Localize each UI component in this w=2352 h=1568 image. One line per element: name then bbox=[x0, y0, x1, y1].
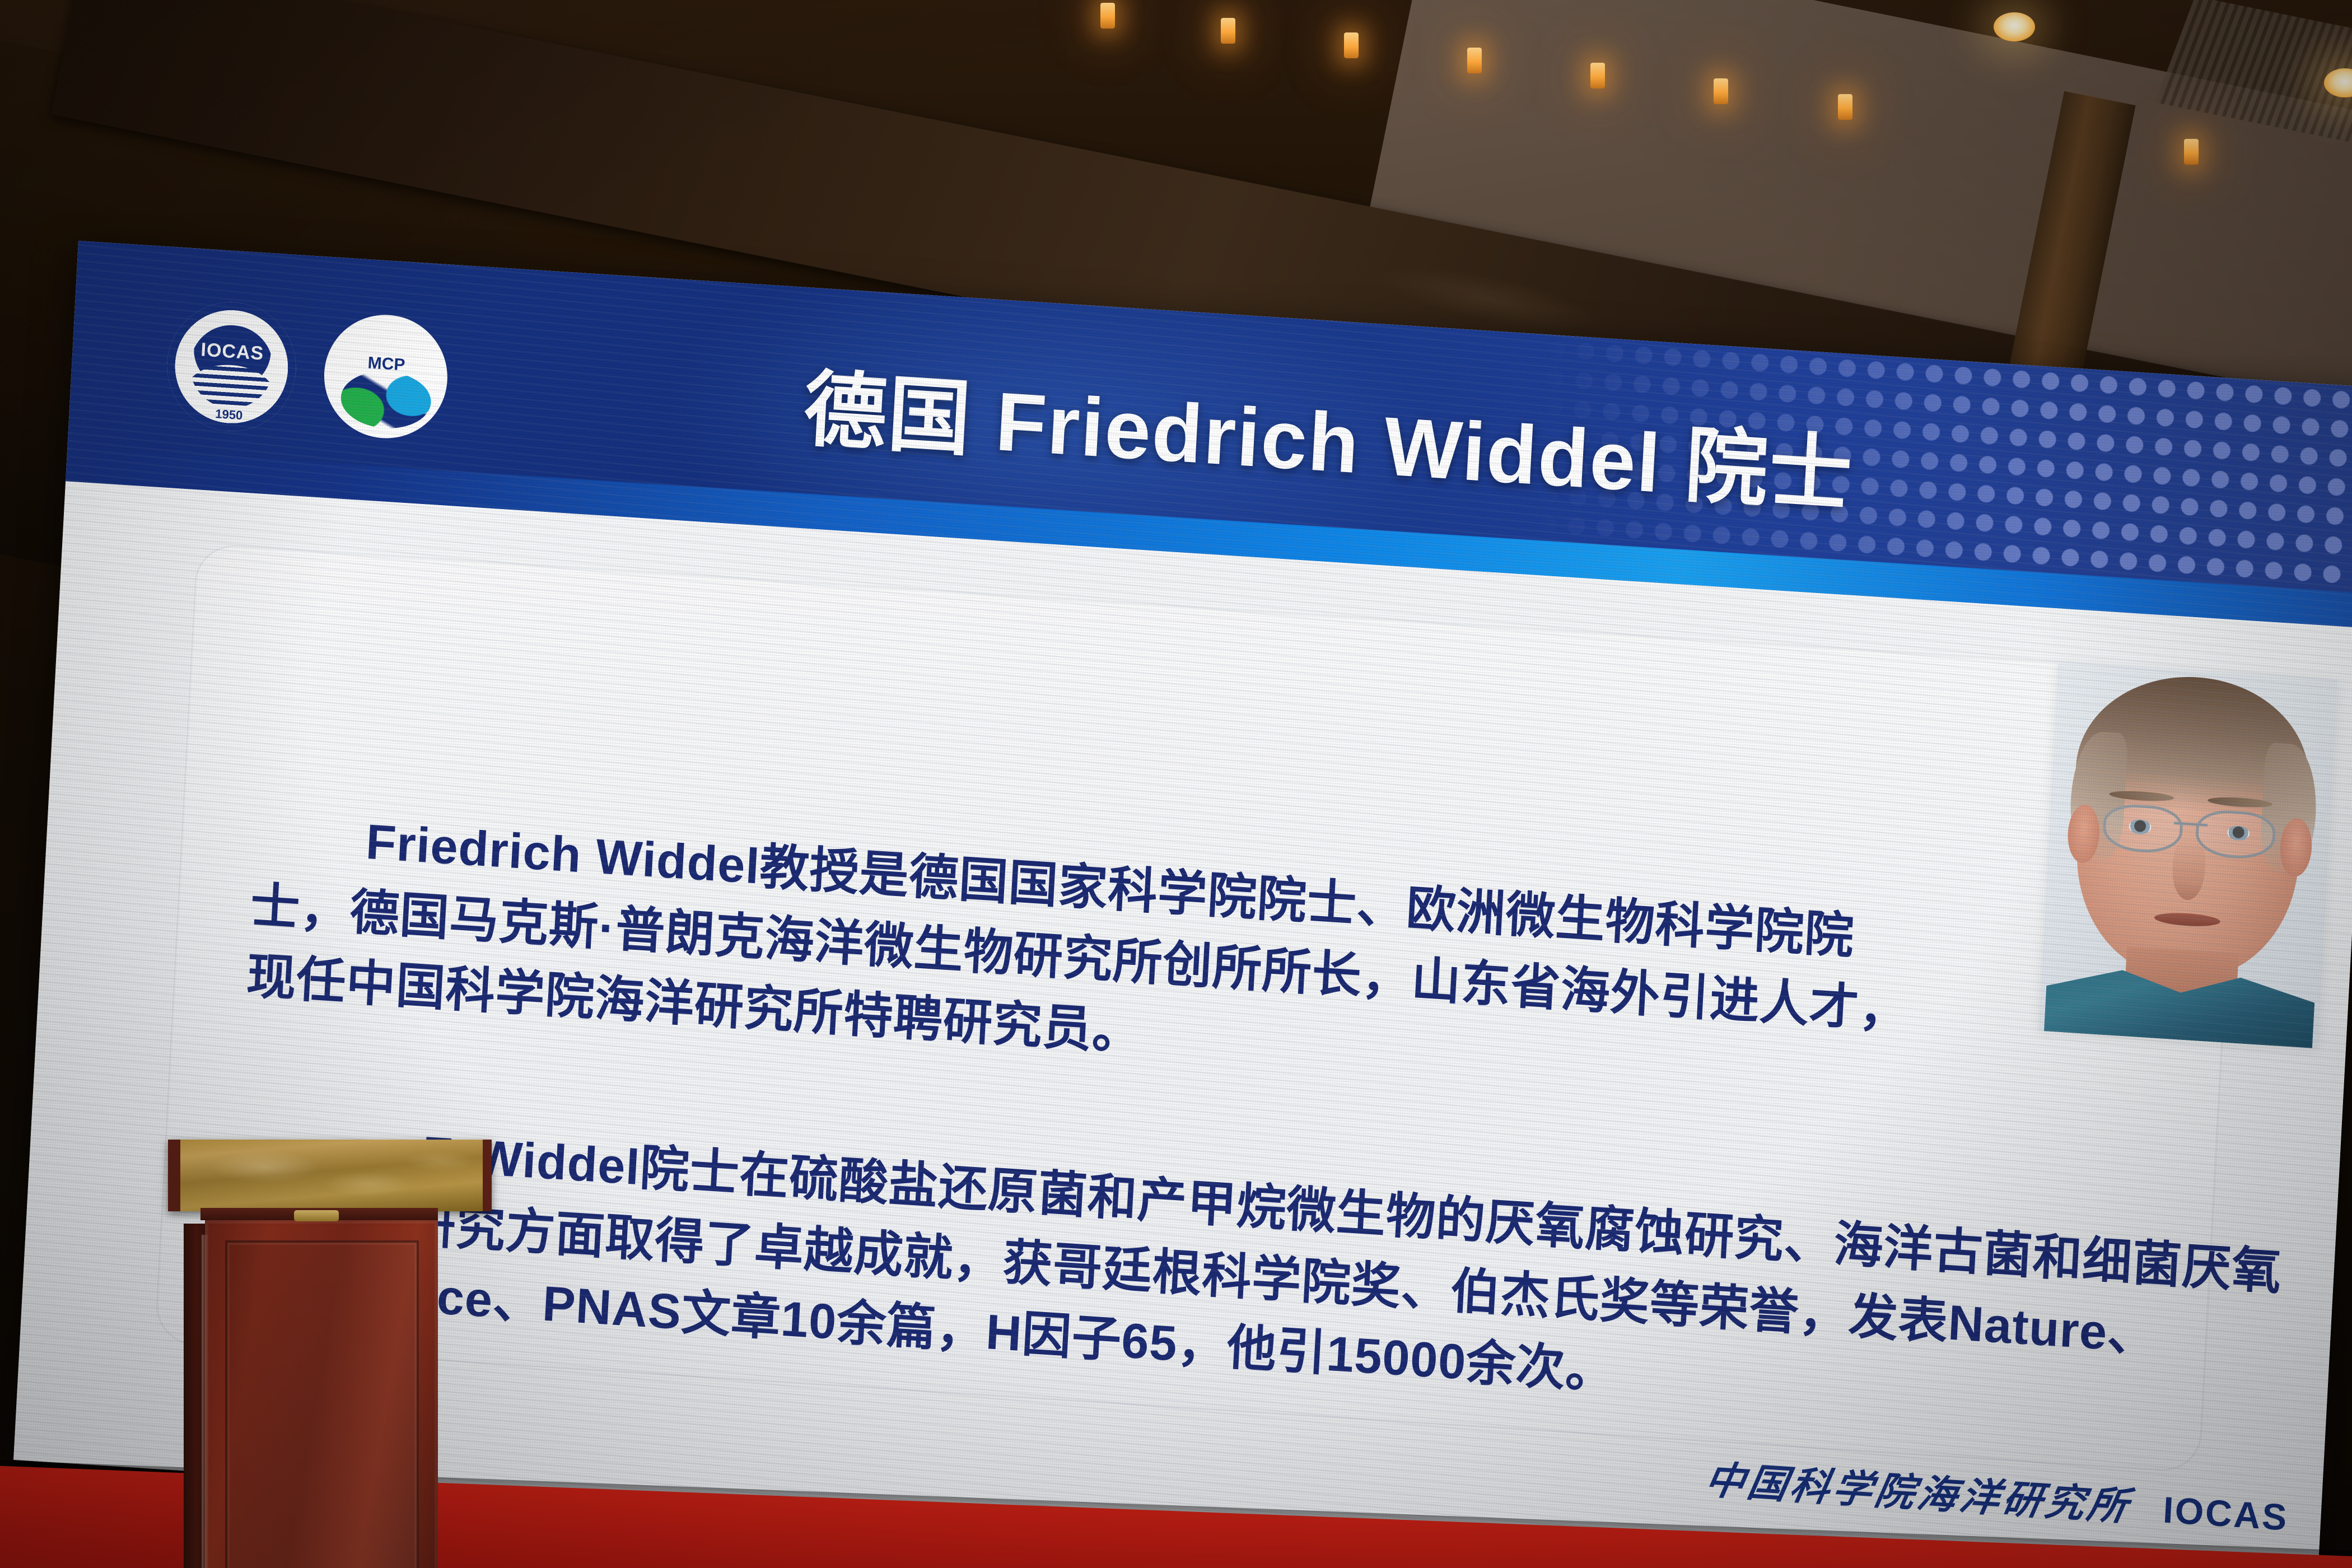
iocas-logo-icon: IOCAS 1950 bbox=[164, 298, 300, 435]
podium-front-panel bbox=[225, 1240, 419, 1568]
podium-edge-highlight bbox=[202, 1235, 208, 1568]
ledge-light bbox=[1221, 18, 1235, 44]
header-logo-group: IOCAS 1950 MCP bbox=[164, 298, 454, 445]
screenshot-stage: IOCAS 1950 MCP 德国 Friedrich Widdel 院士 Fr… bbox=[0, 0, 2352, 1568]
podium bbox=[168, 1140, 470, 1568]
slide-footer: 中国科学院海洋研究所 IOCAS bbox=[1705, 1448, 2290, 1542]
portrait-photo bbox=[2038, 662, 2337, 1049]
podium-top-surface bbox=[168, 1140, 492, 1211]
ceiling-downlight bbox=[1994, 12, 2035, 41]
ledge-light bbox=[2184, 139, 2199, 165]
mcp-logo-icon: MCP bbox=[318, 308, 454, 445]
ledge-light bbox=[1100, 3, 1115, 29]
ledge-light bbox=[1590, 63, 1605, 88]
podium-handle bbox=[294, 1210, 339, 1221]
ledge-light bbox=[1838, 94, 1852, 120]
wave-icon bbox=[188, 362, 275, 408]
ledge-light bbox=[1714, 78, 1728, 104]
footer-institute-en: IOCAS bbox=[2162, 1488, 2290, 1539]
podium-body bbox=[205, 1220, 438, 1568]
ledge-light bbox=[1467, 48, 1482, 73]
ledge-light bbox=[1344, 32, 1359, 58]
